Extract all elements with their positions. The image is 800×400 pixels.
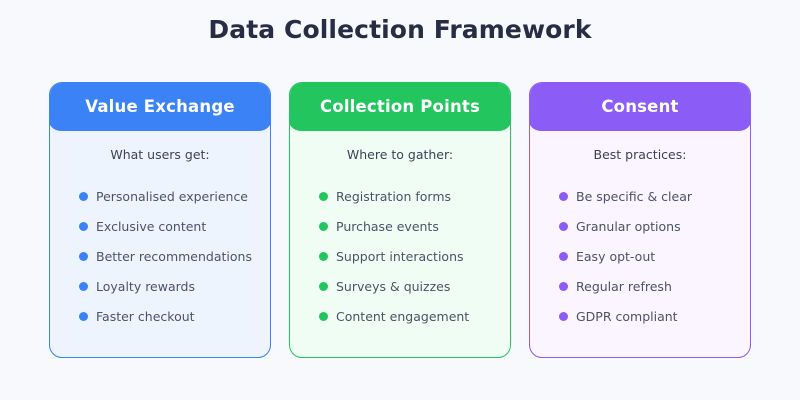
list-item: GDPR compliant — [530, 301, 750, 331]
card-header-consent: Consent — [529, 82, 751, 131]
filled-circle-bullet-icon — [319, 222, 328, 231]
list-item: Be specific & clear — [530, 181, 750, 211]
list-item: Purchase events — [290, 211, 510, 241]
list-item-label: Personalised experience — [96, 189, 248, 204]
card-consent: Consent Best practices: Be specific & cl… — [529, 82, 751, 358]
card-header-value-exchange: Value Exchange — [49, 82, 271, 131]
filled-circle-bullet-icon — [559, 192, 568, 201]
list-item-label: Better recommendations — [96, 249, 252, 264]
filled-circle-bullet-icon — [319, 252, 328, 261]
list-item-label: Easy opt-out — [576, 249, 655, 264]
list-item-label: Exclusive content — [96, 219, 206, 234]
filled-circle-bullet-icon — [79, 222, 88, 231]
list-item-label: Loyalty rewards — [96, 279, 195, 294]
filled-circle-bullet-icon — [79, 282, 88, 291]
card-list-consent: Be specific & clear Granular options Eas… — [530, 181, 750, 331]
list-item-label: Registration forms — [336, 189, 451, 204]
list-item: Regular refresh — [530, 271, 750, 301]
list-item-label: GDPR compliant — [576, 309, 678, 324]
list-item: Exclusive content — [50, 211, 270, 241]
filled-circle-bullet-icon — [559, 312, 568, 321]
list-item: Personalised experience — [50, 181, 270, 211]
card-collection-points: Collection Points Where to gather: Regis… — [289, 82, 511, 358]
card-subtitle: What users get: — [50, 147, 270, 162]
page-title: Data Collection Framework — [0, 15, 800, 44]
filled-circle-bullet-icon — [319, 192, 328, 201]
card-header-title: Value Exchange — [85, 97, 234, 116]
list-item: Granular options — [530, 211, 750, 241]
filled-circle-bullet-icon — [559, 252, 568, 261]
card-subtitle: Where to gather: — [290, 147, 510, 162]
filled-circle-bullet-icon — [559, 282, 568, 291]
list-item: Better recommendations — [50, 241, 270, 271]
card-subtitle: Best practices: — [530, 147, 750, 162]
list-item-label: Surveys & quizzes — [336, 279, 450, 294]
filled-circle-bullet-icon — [79, 252, 88, 261]
card-list-collection-points: Registration forms Purchase events Suppo… — [290, 181, 510, 331]
list-item-label: Faster checkout — [96, 309, 195, 324]
list-item: Surveys & quizzes — [290, 271, 510, 301]
filled-circle-bullet-icon — [319, 282, 328, 291]
list-item: Faster checkout — [50, 301, 270, 331]
list-item: Content engagement — [290, 301, 510, 331]
card-header-collection-points: Collection Points — [289, 82, 511, 131]
list-item: Registration forms — [290, 181, 510, 211]
list-item: Easy opt-out — [530, 241, 750, 271]
infographic-page: Data Collection Framework Value Exchange… — [0, 0, 800, 400]
list-item-label: Be specific & clear — [576, 189, 692, 204]
filled-circle-bullet-icon — [559, 222, 568, 231]
card-header-title: Collection Points — [320, 97, 480, 116]
filled-circle-bullet-icon — [319, 312, 328, 321]
list-item-label: Support interactions — [336, 249, 464, 264]
card-value-exchange: Value Exchange What users get: Personali… — [49, 82, 271, 358]
list-item-label: Granular options — [576, 219, 681, 234]
list-item: Loyalty rewards — [50, 271, 270, 301]
filled-circle-bullet-icon — [79, 312, 88, 321]
filled-circle-bullet-icon — [79, 192, 88, 201]
list-item-label: Regular refresh — [576, 279, 672, 294]
card-list-value-exchange: Personalised experience Exclusive conten… — [50, 181, 270, 331]
card-header-title: Consent — [601, 97, 678, 116]
list-item-label: Purchase events — [336, 219, 439, 234]
list-item: Support interactions — [290, 241, 510, 271]
list-item-label: Content engagement — [336, 309, 469, 324]
